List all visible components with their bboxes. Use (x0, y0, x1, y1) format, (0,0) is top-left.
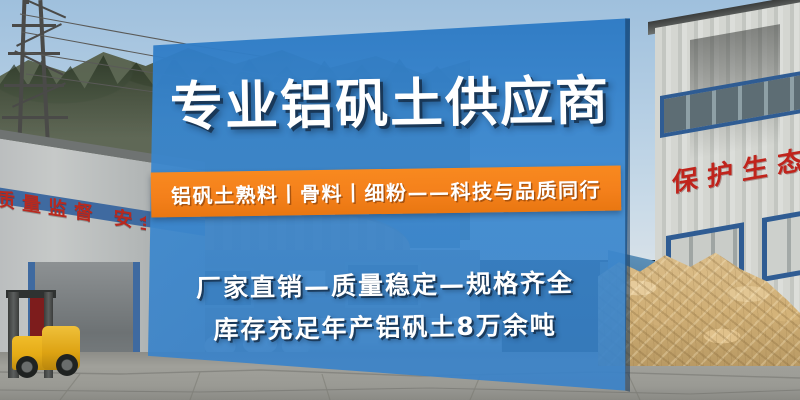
subline-1: 厂家直销—质量稳定—规格齐全 (150, 263, 620, 306)
headline: 专业铝矾土供应商 (150, 74, 631, 134)
tagline-text: 铝矾土熟料丨骨料丨细粉——科技与品质同行 (151, 166, 622, 218)
tagline-bar: 铝矾土熟料丨骨料丨细粉——科技与品质同行 (151, 166, 622, 218)
banner-content: 专业铝矾土供应商 铝矾土熟料丨骨料丨细粉——科技与品质同行 厂家直销—质量稳定—… (0, 0, 800, 400)
promotional-banner: 质量监督 安全为首 保护生态 (0, 0, 800, 400)
subline-2: 库存充足年产铝矾土8万余吨 (150, 305, 620, 348)
